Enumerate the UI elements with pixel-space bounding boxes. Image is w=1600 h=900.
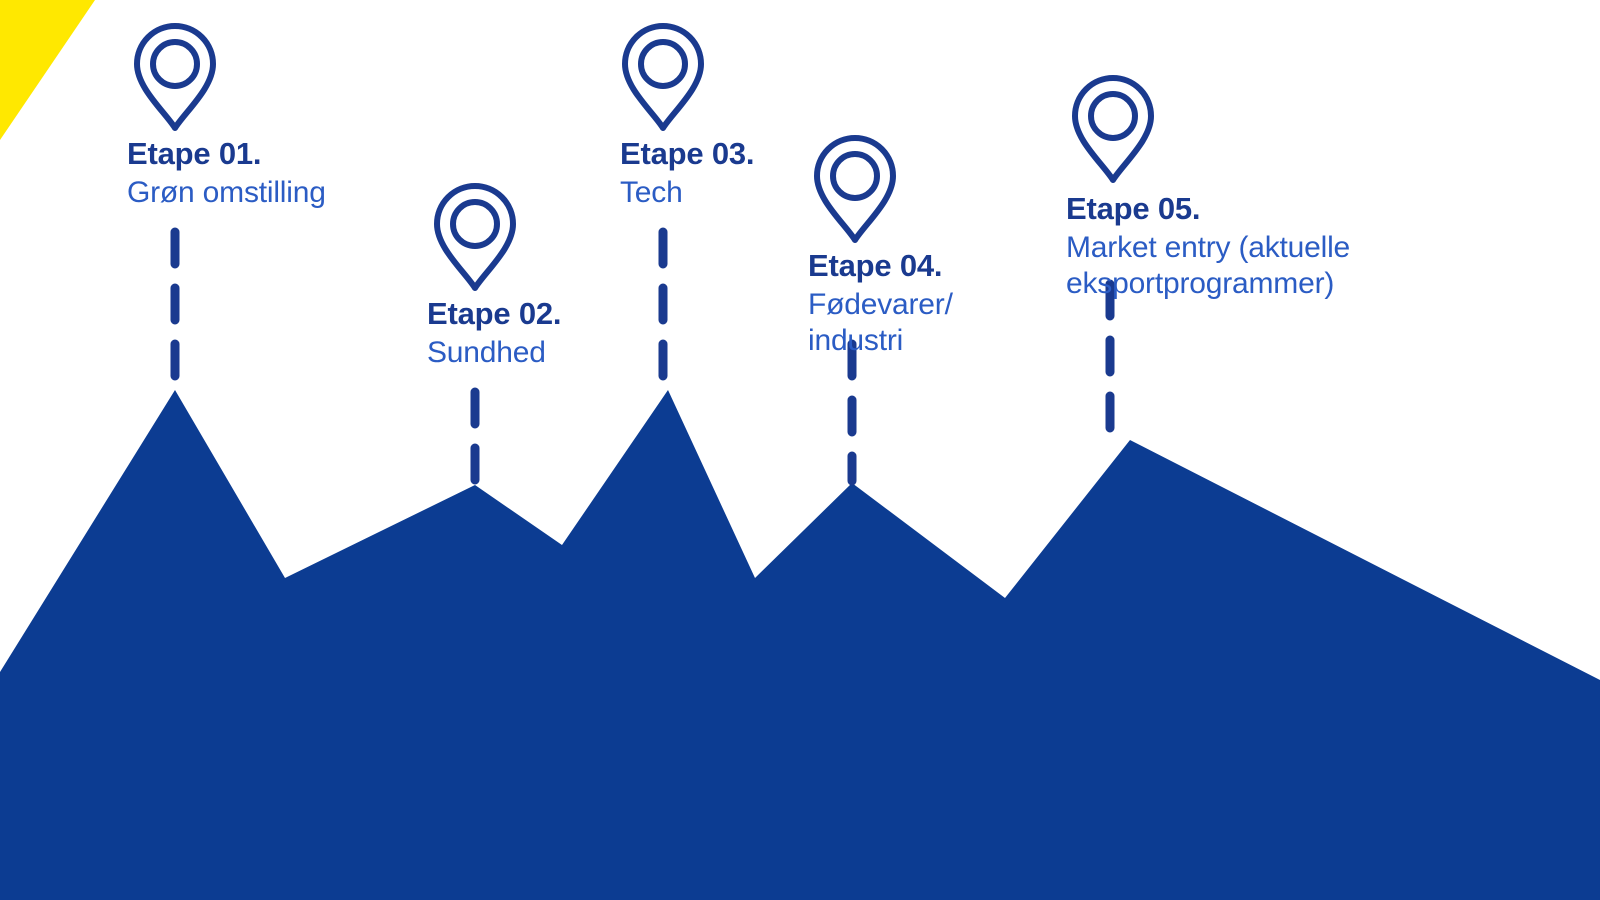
mountain-silhouette [0,390,1600,900]
stage-subtitle-line: eksportprogrammer) [1066,269,1350,299]
stage-title: Etape 02. [427,298,561,329]
stage-title: Etape 05. [1066,193,1350,224]
stage-title: Etape 01. [127,138,326,169]
stage-label-etape-01: Etape 01. Grøn omstilling [127,138,326,208]
stage-label-etape-03: Etape 03. Tech [620,138,754,208]
map-pin-icon-5[interactable] [1075,78,1151,180]
stage-label-etape-04: Etape 04. Fødevarer/ industri [808,250,953,356]
stage-label-etape-05: Etape 05. Market entry (aktuelle eksport… [1066,193,1350,299]
map-pin-icon-3[interactable] [625,26,701,128]
map-pin-icon-1[interactable] [137,26,213,128]
stage-title: Etape 04. [808,250,953,281]
stage-subtitle-line: Tech [620,178,754,208]
map-pin-icon-2[interactable] [437,186,513,288]
stage-subtitle-line: industri [808,326,953,356]
stage-subtitle-line: Market entry (aktuelle [1066,233,1350,263]
map-pin-icon-4[interactable] [817,138,893,240]
stage-label-etape-02: Etape 02. Sundhed [427,298,561,368]
stage-subtitle-line: Sundhed [427,338,561,368]
yellow-corner-wedge [0,0,95,140]
stage-title: Etape 03. [620,138,754,169]
stage-subtitle-line: Grøn omstilling [127,178,326,208]
infographic-canvas: Etape 01. Grøn omstilling Etape 02. Sund… [0,0,1600,900]
infographic-artwork [0,0,1600,900]
stage-subtitle-line: Fødevarer/ [808,290,953,320]
